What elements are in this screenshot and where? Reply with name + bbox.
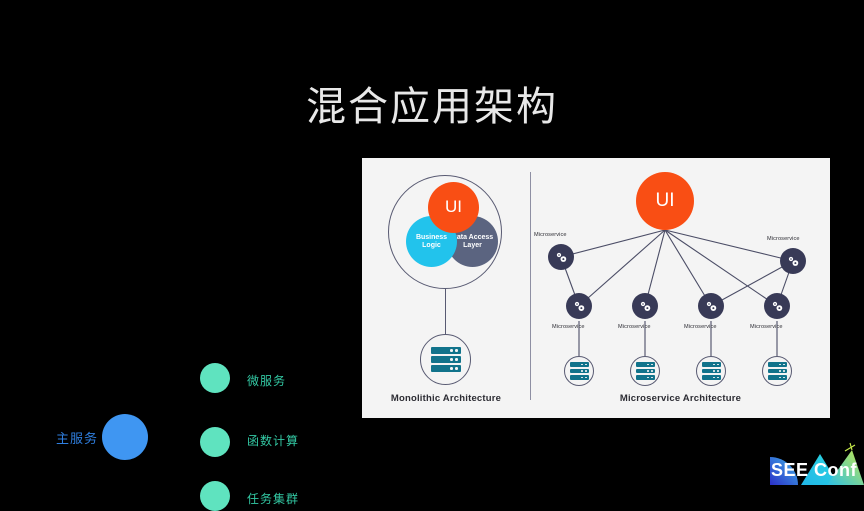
gears-icon: [554, 250, 569, 265]
gears-icon: [638, 299, 653, 314]
monolithic-diagram: Business Logic Data Access Layer UI Mono…: [362, 158, 530, 418]
left-concept-cluster: 主服务 微服务 函数计算 任务集群: [0, 150, 350, 410]
microservice-node-3-label: Microservice: [552, 324, 585, 330]
see-conf-logo-text: SEE Conf: [771, 460, 857, 481]
page-title: 混合应用架构: [0, 83, 864, 131]
monolith-connector-line: [445, 289, 446, 335]
microservice-caption: Microservice Architecture: [531, 393, 830, 404]
microservice-node-5: [698, 293, 724, 319]
database-icon: [570, 362, 589, 380]
see-conf-logo: SEE Conf: [757, 440, 864, 485]
monolith-ui-label: UI: [445, 198, 462, 217]
microservice-ui-node: UI: [636, 172, 694, 230]
sub-service-node-3: [200, 481, 230, 511]
microservice-node-1: [548, 244, 574, 270]
microservice-diagram: UI Microservice: [531, 158, 830, 418]
database-icon: [636, 362, 655, 380]
microservice-node-6: [764, 293, 790, 319]
database-icon: [768, 362, 787, 380]
gears-icon: [770, 299, 785, 314]
sub-service-label-3: 任务集群: [247, 490, 299, 507]
microservice-node-5-label: Microservice: [684, 324, 717, 330]
monolithic-caption: Monolithic Architecture: [362, 393, 530, 404]
business-logic-label: Business Logic: [406, 234, 457, 249]
microservice-node-6-label: Microservice: [750, 324, 783, 330]
microservice-database-3: [696, 356, 726, 386]
architecture-panel: Business Logic Data Access Layer UI Mono…: [362, 158, 830, 418]
main-service-label: 主服务: [56, 428, 98, 447]
database-icon: [431, 347, 461, 372]
microservice-database-4: [762, 356, 792, 386]
monolith-database-node: [420, 334, 471, 385]
microservice-node-4: [632, 293, 658, 319]
microservice-database-2: [630, 356, 660, 386]
database-icon: [702, 362, 721, 380]
microservice-node-2: [780, 248, 806, 274]
sub-service-node-1: [200, 363, 230, 393]
microservice-node-2-label: Microservice: [767, 236, 800, 242]
gears-icon: [572, 299, 587, 314]
microservice-node-3: [566, 293, 592, 319]
monolith-ui-circle: UI: [428, 182, 479, 233]
sub-service-label-1: 微服务: [247, 372, 286, 389]
gears-icon: [704, 299, 719, 314]
slide-root: 混合应用架构 主服务 微服务 函数计算 任务集群 Business Logic …: [0, 0, 864, 485]
sub-service-label-2: 函数计算: [247, 432, 299, 449]
microservice-node-4-label: Microservice: [618, 324, 651, 330]
microservice-node-1-label: Microservice: [534, 232, 567, 238]
main-service-node: [102, 414, 148, 460]
microservice-database-1: [564, 356, 594, 386]
gears-icon: [786, 254, 801, 269]
microservice-ui-label: UI: [656, 190, 675, 212]
sub-service-node-2: [200, 427, 230, 457]
